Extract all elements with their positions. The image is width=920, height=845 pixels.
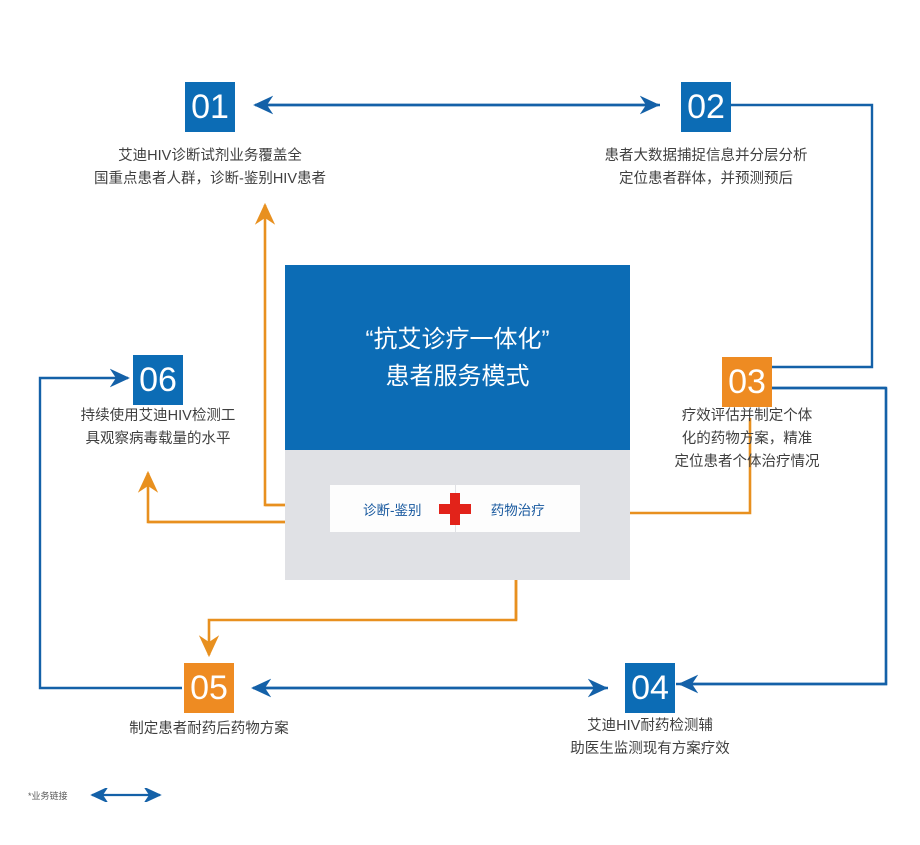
legend: *业务链接 <box>28 788 166 802</box>
step-badge-03[interactable]: 03 <box>722 357 772 407</box>
pill-diagnosis[interactable]: 诊断-鉴别 <box>330 485 455 532</box>
center-title-block: “抗艾诊疗一体化” 患者服务模式 <box>285 265 630 450</box>
step-caption-02: 患者大数据捕捉信息并分层分析 定位患者群体，并预测预后 <box>531 145 881 191</box>
center-title: “抗艾诊疗一体化” 患者服务模式 <box>366 321 550 395</box>
step-badge-06[interactable]: 06 <box>133 355 183 405</box>
legend-label: *业务链接 <box>28 789 68 802</box>
pill-diagnosis-label: 诊断-鉴别 <box>363 499 422 519</box>
pill-medication-label: 药物治疗 <box>491 499 545 519</box>
step-caption-01: 艾迪HIV诊断试剂业务覆盖全 国重点患者人群，诊断-鉴别HIV患者 <box>35 145 385 191</box>
pill-medication[interactable]: 药物治疗 <box>456 485 581 532</box>
step-badge-01[interactable]: 01 <box>185 82 235 132</box>
step-caption-05: 制定患者耐药后药物方案 <box>69 718 349 741</box>
double-arrow-icon <box>86 788 166 802</box>
step-caption-03: 疗效评估并制定个体 化的药物方案，精准 定位患者个体治疗情况 <box>652 405 842 474</box>
step-badge-02[interactable]: 02 <box>681 82 731 132</box>
step-caption-04: 艾迪HIV耐药检测辅 助医生监测现有方案疗效 <box>530 715 770 761</box>
center-pill-row: 诊断-鉴别 药物治疗 <box>330 485 580 532</box>
step-caption-06: 持续使用艾迪HIV检测工 具观察病毒载量的水平 <box>38 405 278 451</box>
infographic-canvas: “抗艾诊疗一体化” 患者服务模式 诊断-鉴别 药物治疗 01 艾迪HIV诊断试剂… <box>0 0 920 845</box>
step-badge-04[interactable]: 04 <box>625 663 675 713</box>
step-badge-05[interactable]: 05 <box>184 663 234 713</box>
center-panel: “抗艾诊疗一体化” 患者服务模式 诊断-鉴别 药物治疗 <box>285 265 630 580</box>
